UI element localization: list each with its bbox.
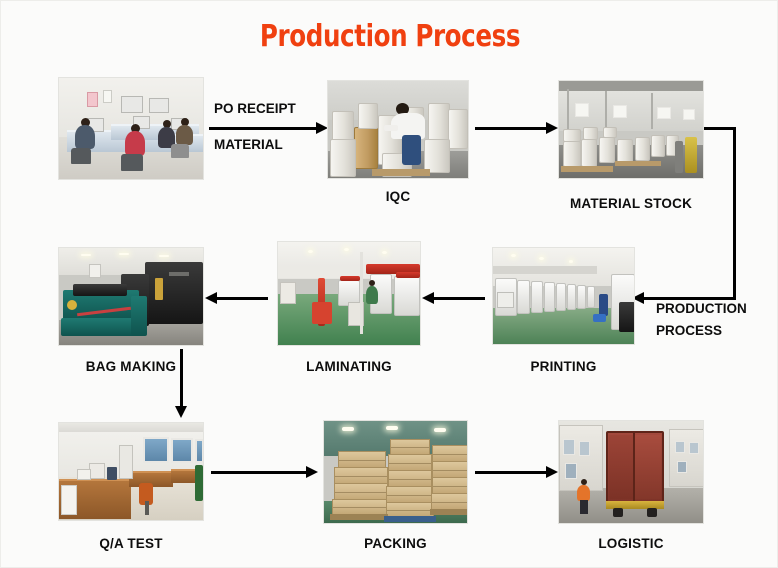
connector-right-down xyxy=(733,127,736,300)
step-caption-laminating: LAMINATING xyxy=(277,359,421,374)
arrow-packing-to-logistic xyxy=(475,471,547,474)
step-image-packing xyxy=(323,420,468,524)
step-image-bag-making xyxy=(58,247,204,346)
step-caption-logistic: LOGISTIC xyxy=(558,536,704,551)
edge-label-process: PROCESS xyxy=(656,323,722,338)
step-image-logistic xyxy=(558,420,704,524)
step-caption-material-stock: MATERIAL STOCK xyxy=(548,196,714,211)
step-image-printing xyxy=(492,247,635,345)
step-image-qa-test xyxy=(58,422,204,521)
arrow-laminating-to-bagmaking xyxy=(216,297,268,300)
step-image-iqc xyxy=(327,80,469,179)
edge-label-material: MATERIAL xyxy=(214,137,283,152)
step-caption-packing: PACKING xyxy=(323,536,468,551)
page-title: Production Process xyxy=(71,19,709,54)
step-image-office xyxy=(58,77,204,180)
edge-label-po-receipt: PO RECEIPT xyxy=(214,101,296,116)
arrow-iqc-to-material-stock xyxy=(475,127,547,130)
step-caption-printing: PRINTING xyxy=(492,359,635,374)
step-image-laminating xyxy=(277,241,421,346)
arrow-return-to-printing xyxy=(643,297,735,300)
arrow-qatest-to-packing xyxy=(211,471,307,474)
step-caption-iqc: IQC xyxy=(327,189,469,204)
step-caption-qa-test: Q/A TEST xyxy=(58,536,204,551)
edge-label-production: PRODUCTION xyxy=(656,301,747,316)
arrow-printing-to-laminating xyxy=(433,297,485,300)
arrow-bagmaking-to-qatest xyxy=(180,349,183,407)
step-image-material-stock xyxy=(558,80,704,179)
production-process-diagram: Production Process PO RECEIPT MATERIAL xyxy=(0,0,778,568)
connector-material-stock-right xyxy=(704,127,736,130)
arrow-office-to-iqc xyxy=(209,127,317,130)
